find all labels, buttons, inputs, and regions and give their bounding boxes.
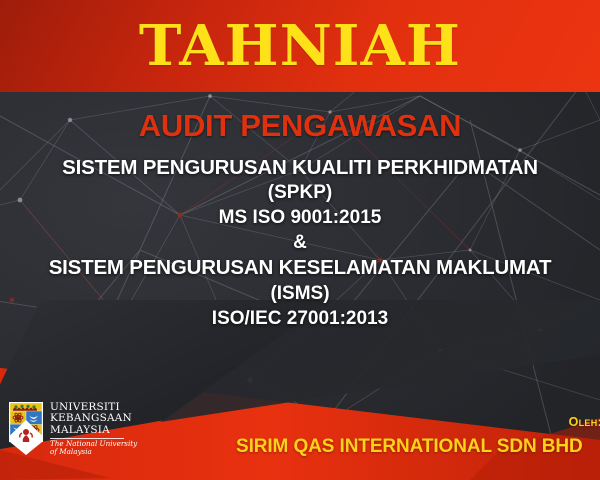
detail-line-isms-title: SISTEM PENGURUSAN KESELAMATAN MAKLUMAT: [0, 255, 600, 282]
ukm-crest-icon: [9, 402, 43, 456]
detail-line-isms-abbrev: (ISMS): [0, 282, 600, 307]
ukm-logo: UNIVERSITI KEBANGSAAN MALAYSIA The Natio…: [9, 402, 137, 457]
auditor-name: SIRIM QAS INTERNATIONAL SDN BHD: [236, 436, 583, 458]
certification-details: SISTEM PENGURUSAN KUALITI PERKHIDMATAN (…: [0, 155, 600, 332]
top-red-banner: TAHNIAH: [0, 0, 600, 92]
page-title: TAHNIAH: [139, 18, 461, 74]
detail-line-iso-27001: ISO/IEC 27001:2013: [0, 307, 600, 332]
detail-line-iso-9001: MS ISO 9001:2015: [0, 206, 600, 231]
ukm-line-malaysia: MALAYSIA: [50, 425, 137, 436]
ukm-logo-text: UNIVERSITI KEBANGSAAN MALAYSIA The Natio…: [50, 402, 137, 457]
poster-content: AUDIT PENGAWASAN SISTEM PENGURUSAN KUALI…: [0, 92, 600, 331]
audit-subtitle: AUDIT PENGAWASAN: [0, 110, 600, 143]
by-label: Oleh:: [569, 415, 600, 429]
detail-line-ampersand: &: [0, 231, 600, 256]
detail-line-spkp-title: SISTEM PENGURUSAN KUALITI PERKHIDMATAN: [0, 155, 600, 182]
certificate-poster: TAHNIAH AUDIT PENGAWASAN SISTEM PENGURUS…: [0, 0, 600, 480]
ukm-tagline-line2: of Malaysia: [50, 448, 137, 456]
detail-line-spkp-abbrev: (SPKP): [0, 181, 600, 206]
